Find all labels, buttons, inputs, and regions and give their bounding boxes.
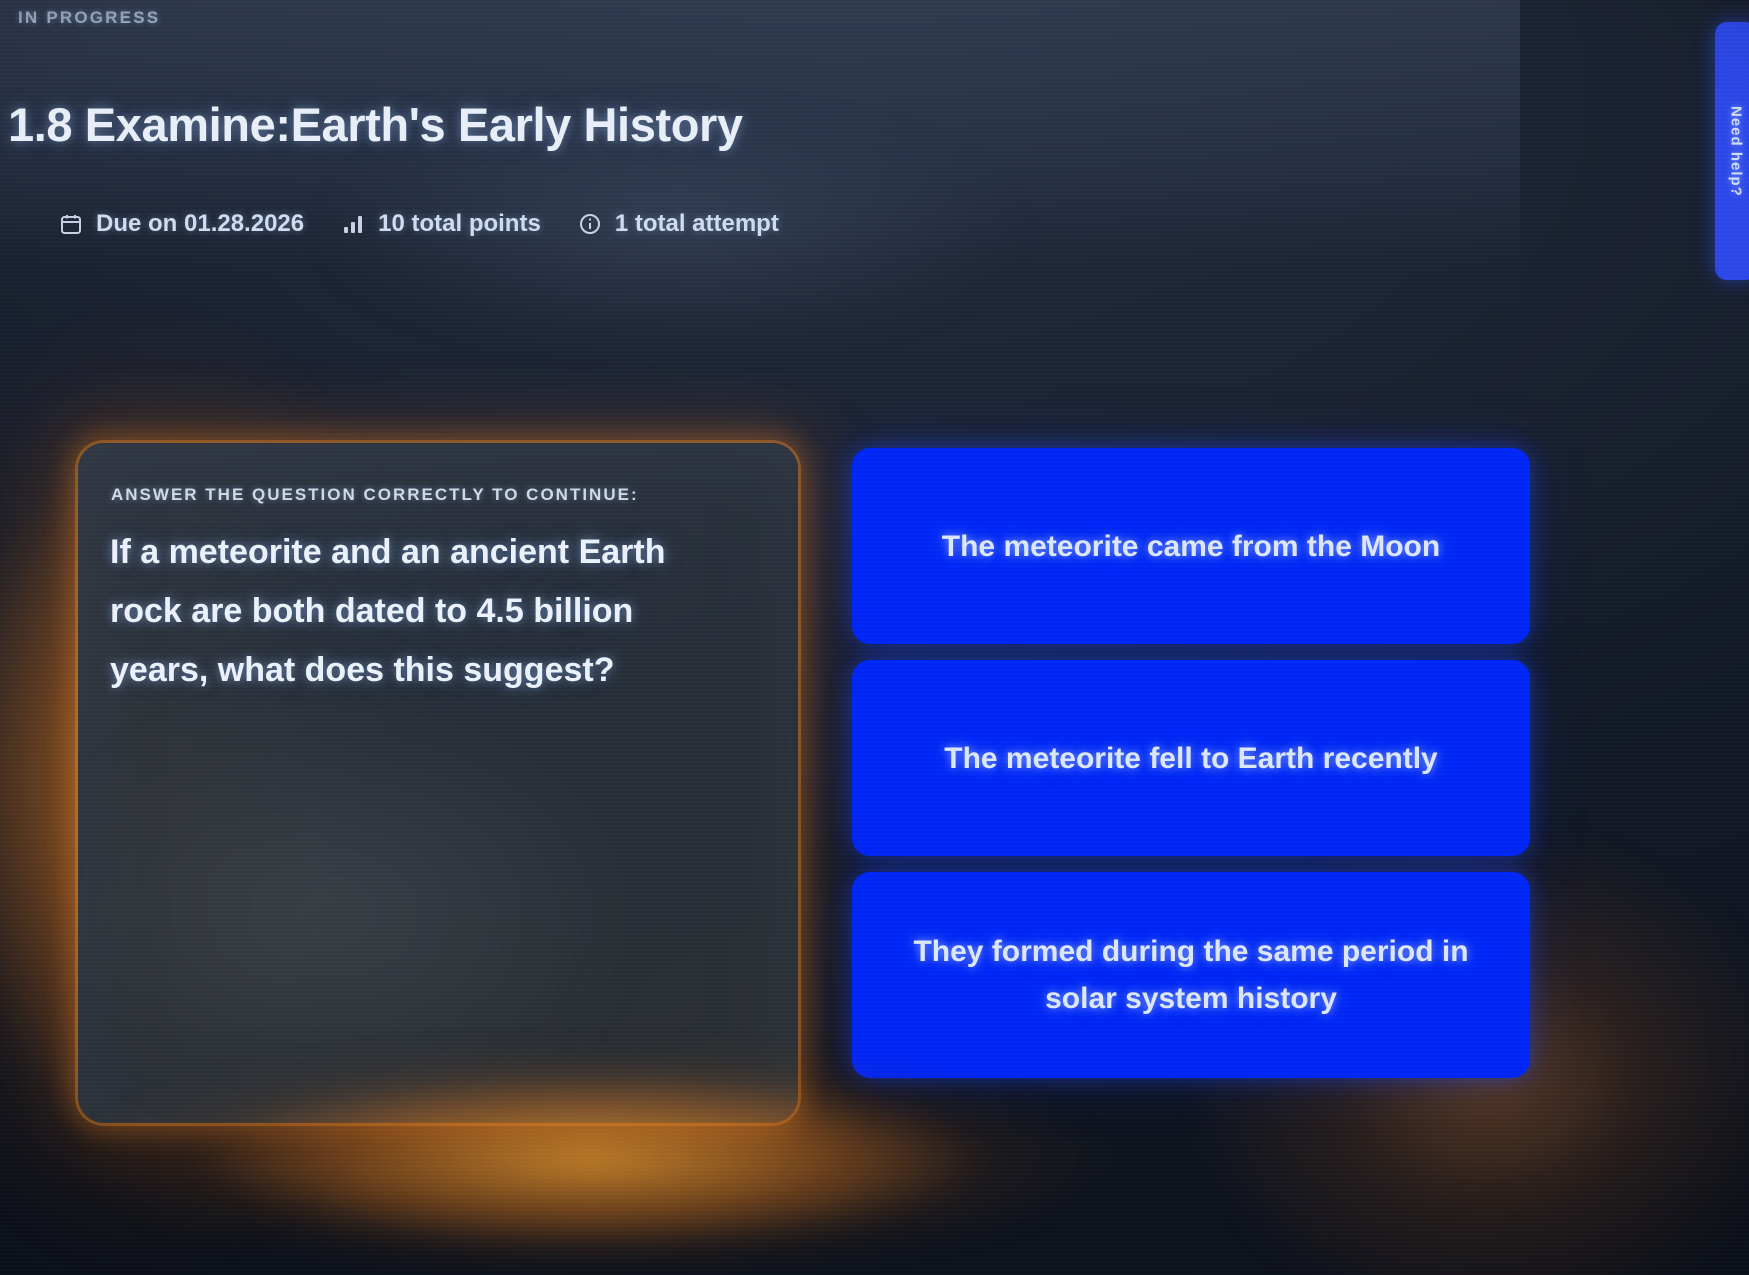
meta-total-points-label: 10 total points bbox=[378, 210, 541, 238]
meta-due-date: Due on 01.28.2026 bbox=[58, 210, 304, 238]
calendar-icon bbox=[58, 211, 84, 237]
assignment-meta-row: Due on 01.28.2026 10 total points 1 bbox=[58, 210, 779, 238]
help-side-tab-label: Need help? bbox=[1728, 106, 1745, 197]
status-badge: IN PROGRESS bbox=[18, 8, 160, 28]
meta-total-attempts: 1 total attempt bbox=[577, 210, 779, 238]
question-prompt-label: ANSWER THE QUESTION CORRECTLY TO CONTINU… bbox=[111, 485, 639, 505]
help-side-tab[interactable]: Need help? bbox=[1715, 22, 1749, 280]
meta-total-points: 10 total points bbox=[340, 210, 541, 238]
page-title: 1.8 Examine:Earth's Early History bbox=[8, 97, 743, 152]
assignment-screen: IN PROGRESS 1.8 Examine:Earth's Early Hi… bbox=[0, 0, 1749, 1275]
meta-due-date-label: Due on 01.28.2026 bbox=[96, 210, 304, 238]
meta-total-attempts-label: 1 total attempt bbox=[615, 210, 779, 238]
answer-option-0[interactable]: The meteorite came from the Moon bbox=[852, 448, 1530, 644]
question-card: ANSWER THE QUESTION CORRECTLY TO CONTINU… bbox=[78, 443, 798, 1123]
bar-chart-icon bbox=[340, 211, 366, 237]
info-icon bbox=[577, 211, 603, 237]
answer-option-2[interactable]: They formed during the same period in so… bbox=[852, 872, 1530, 1078]
answer-options-list: The meteorite came from the Moon The met… bbox=[852, 448, 1530, 1078]
question-text: If a meteorite and an ancient Earth rock… bbox=[110, 523, 710, 700]
card-glare bbox=[78, 703, 638, 1123]
answer-option-1[interactable]: The meteorite fell to Earth recently bbox=[852, 660, 1530, 856]
